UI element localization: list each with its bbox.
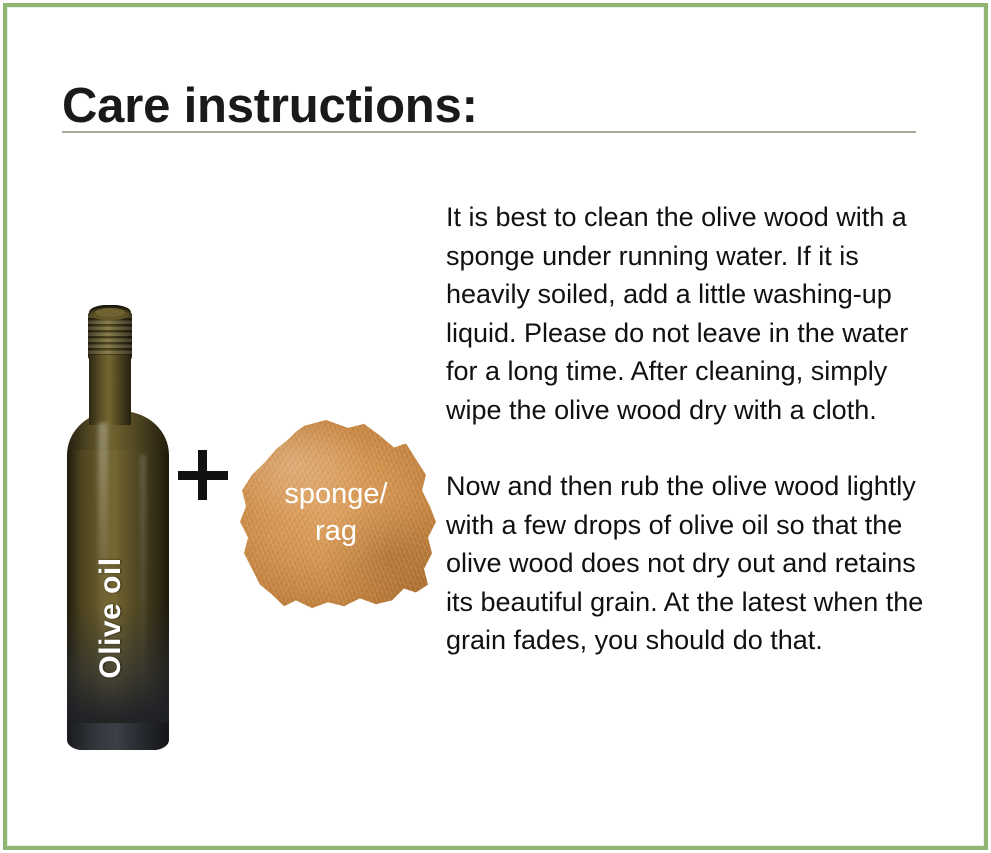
olive-oil-bottle-image: Olive oil (62, 305, 174, 753)
title-divider (62, 131, 916, 133)
page-title: Care instructions: (62, 77, 478, 135)
instructions-text-column: It is best to clean the olive wood with … (446, 198, 946, 660)
instructions-paragraph-2: Now and then rub the olive wood lightly … (446, 467, 946, 660)
plus-icon-vertical-bar (198, 450, 207, 500)
bottle-opening (95, 308, 125, 317)
sponge-rag-image: sponge/ rag (236, 420, 436, 616)
bottle-neck (89, 355, 131, 425)
bottle-highlight-secondary (140, 455, 146, 705)
plus-icon (178, 450, 228, 500)
sponge-label-line2: rag (236, 513, 436, 550)
sponge-label: sponge/ rag (236, 476, 436, 550)
care-instructions-page: Care instructions: Olive oil sponge/ rag… (0, 0, 991, 853)
instructions-paragraph-1: It is best to clean the olive wood with … (446, 198, 946, 429)
bottle-label-text: Olive oil (94, 503, 128, 733)
sponge-label-line1: sponge/ (284, 478, 387, 510)
